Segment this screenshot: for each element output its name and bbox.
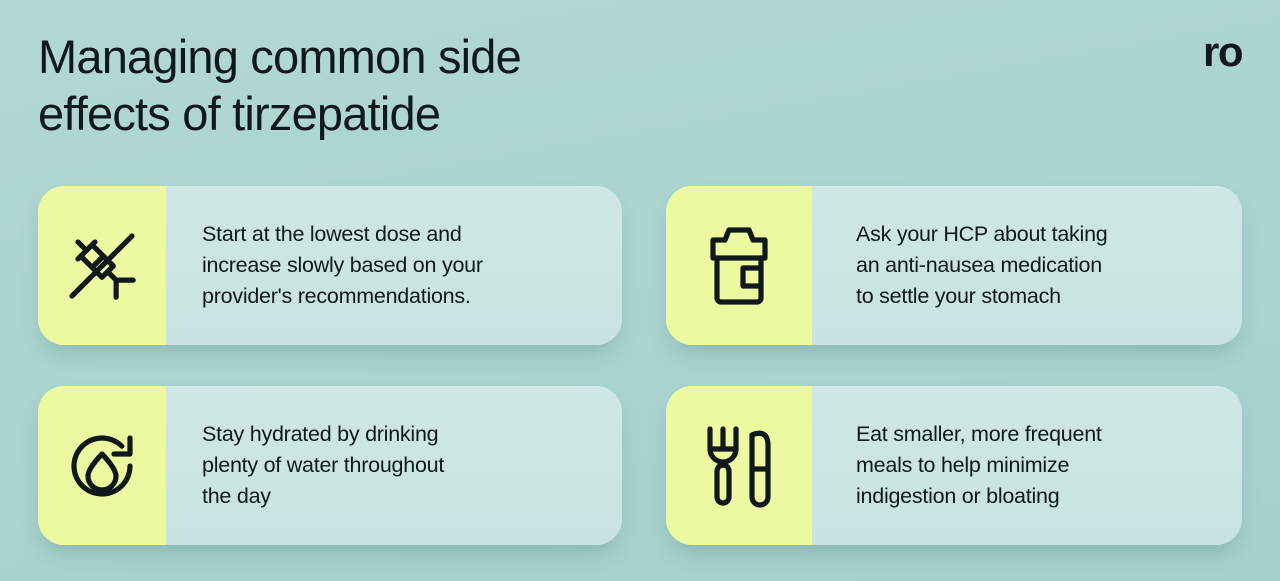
tip-card-meals: Eat smaller, more frequent meals to help… <box>666 386 1242 545</box>
tip-card-body: Start at the lowest dose and increase sl… <box>166 186 622 345</box>
pill-bottle-icon <box>701 224 777 308</box>
tip-card-body: Ask your HCP about taking an anti-nausea… <box>812 186 1242 345</box>
water-drop-refresh-icon-panel <box>38 386 166 545</box>
infographic-page: Managing common side effects of tirzepat… <box>0 0 1280 581</box>
fork-knife-icon-panel <box>666 386 812 545</box>
tip-card-dose: Start at the lowest dose and increase sl… <box>38 186 622 345</box>
syringe-icon <box>60 224 144 308</box>
tips-card-grid: Start at the lowest dose and increase sl… <box>0 0 1280 581</box>
tip-card-text: Ask your HCP about taking an anti-nausea… <box>812 219 1130 312</box>
tip-card-body: Stay hydrated by drinking plenty of wate… <box>166 386 622 545</box>
tip-card-text: Eat smaller, more frequent meals to help… <box>812 419 1124 512</box>
tip-card-medication: Ask your HCP about taking an anti-nausea… <box>666 186 1242 345</box>
tip-card-text: Start at the lowest dose and increase sl… <box>166 219 505 312</box>
tip-card-hydration: Stay hydrated by drinking plenty of wate… <box>38 386 622 545</box>
water-drop-refresh-icon <box>60 424 144 508</box>
pill-bottle-icon-panel <box>666 186 812 345</box>
tip-card-body: Eat smaller, more frequent meals to help… <box>812 386 1242 545</box>
tip-card-text: Stay hydrated by drinking plenty of wate… <box>166 419 466 512</box>
syringe-icon-panel <box>38 186 166 345</box>
fork-knife-icon <box>702 423 776 509</box>
